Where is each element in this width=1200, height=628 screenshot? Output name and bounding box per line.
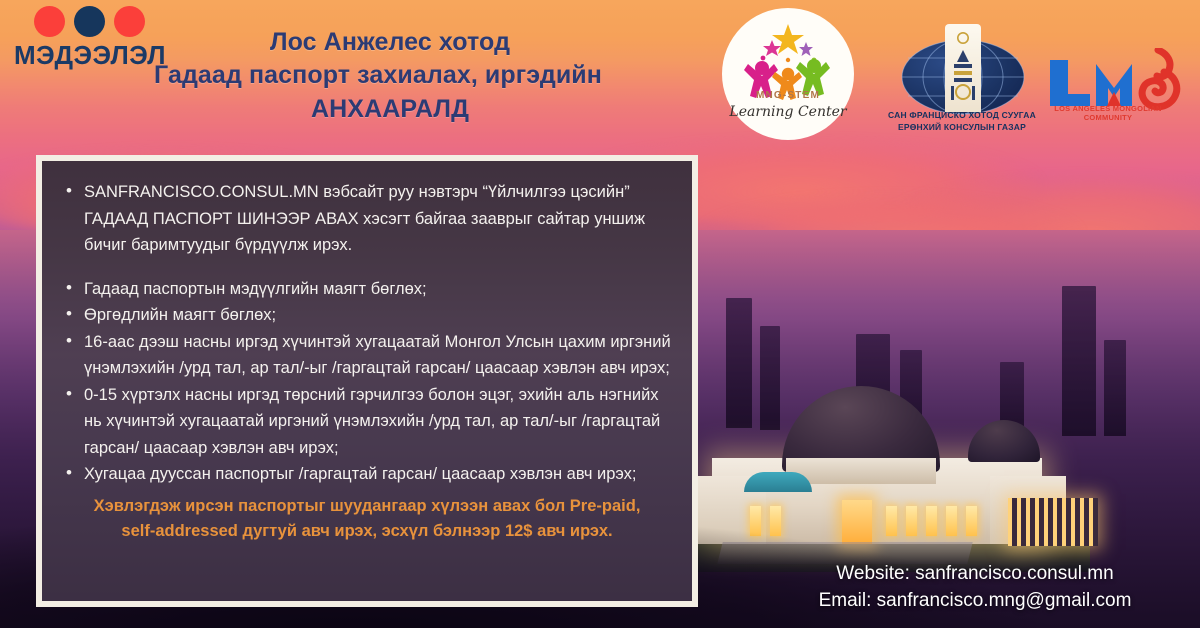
list-item: 0-15 хүртэлх насны иргэд төрсний гэрчилг… — [58, 382, 676, 462]
page-title: Лос Анжелес хотод Гадаад паспорт захиала… — [130, 26, 650, 126]
stem-logo-line-2: Learning Center — [722, 104, 854, 120]
list-item: 16-аас дээш насны иргэд хүчинтэй хугацаа… — [58, 329, 676, 382]
title-line-2: Гадаад паспорт захиалах, иргэдийн — [106, 58, 650, 92]
title-line-1: Лос Анжелес хотод — [130, 26, 650, 58]
contact-info: Website: sanfrancisco.consul.mn Email: s… — [760, 560, 1190, 614]
title-line-3: АНХААРАЛД — [130, 92, 650, 126]
badge-dot-navy — [74, 6, 105, 37]
soyombo-symbol-icon — [945, 24, 981, 112]
mng-stem-logo: MNG-STEM Learning Center — [722, 8, 854, 140]
instructions-panel: SANFRANCISCO.CONSUL.MN вэбсайт руу нэвтэ… — [36, 155, 698, 607]
highlight-line-1: Хэвлэгдэж ирсэн паспортыг шуудангаар хүл… — [58, 494, 676, 519]
list-item: Гадаад паспортын мэдүүлгийн маягт бөглөх… — [58, 276, 676, 303]
highlight-note: Хэвлэгдэж ирсэн паспортыг шуудангаар хүл… — [58, 494, 676, 544]
consulate-emblem-logo: САН ФРАНЦИСКО ХОТОД СУУГАА ЕРӨНХИЙ КОНСУ… — [882, 10, 1042, 140]
requirements-list: SANFRANCISCO.CONSUL.MN вэбсайт руу нэвтэ… — [58, 179, 676, 488]
lmc-logo: LOS ANGELES MONGOLIAN COMMUNITY — [1044, 48, 1192, 126]
list-item: SANFRANCISCO.CONSUL.MN вэбсайт руу нэвтэ… — [58, 179, 676, 259]
stem-logo-line-1: MNG-STEM — [722, 90, 854, 101]
lmc-subtitle: LOS ANGELES MONGOLIAN COMMUNITY — [1044, 104, 1172, 122]
list-item: Өргөдлийн маягт бөглөх; — [58, 302, 676, 329]
list-item: Хугацаа дууссан паспортыг /гаргацтай гар… — [58, 461, 676, 488]
poster-canvas: МЭДЭЭЛЭЛ Лос Анжелес хотод Гадаад паспор… — [0, 0, 1200, 628]
email-text: Email: sanfrancisco.mng@gmail.com — [760, 587, 1190, 614]
poster-header: МЭДЭЭЛЭЛ Лос Анжелес хотод Гадаад паспор… — [0, 0, 1200, 150]
consulate-line-1: САН ФРАНЦИСКО ХОТОД СУУГАА — [882, 110, 1042, 120]
highlight-line-2: self-addressed дугтуй авч ирэх, эсхүл бэ… — [58, 519, 676, 544]
website-text: Website: sanfrancisco.consul.mn — [760, 560, 1190, 587]
badge-dot-red-left — [34, 6, 65, 37]
consulate-line-2: ЕРӨНХИЙ КОНСУЛЫН ГАЗАР — [882, 122, 1042, 132]
instructions-panel-inner: SANFRANCISCO.CONSUL.MN вэбсайт руу нэвтэ… — [42, 161, 692, 601]
stem-children-star-icon — [722, 8, 854, 140]
